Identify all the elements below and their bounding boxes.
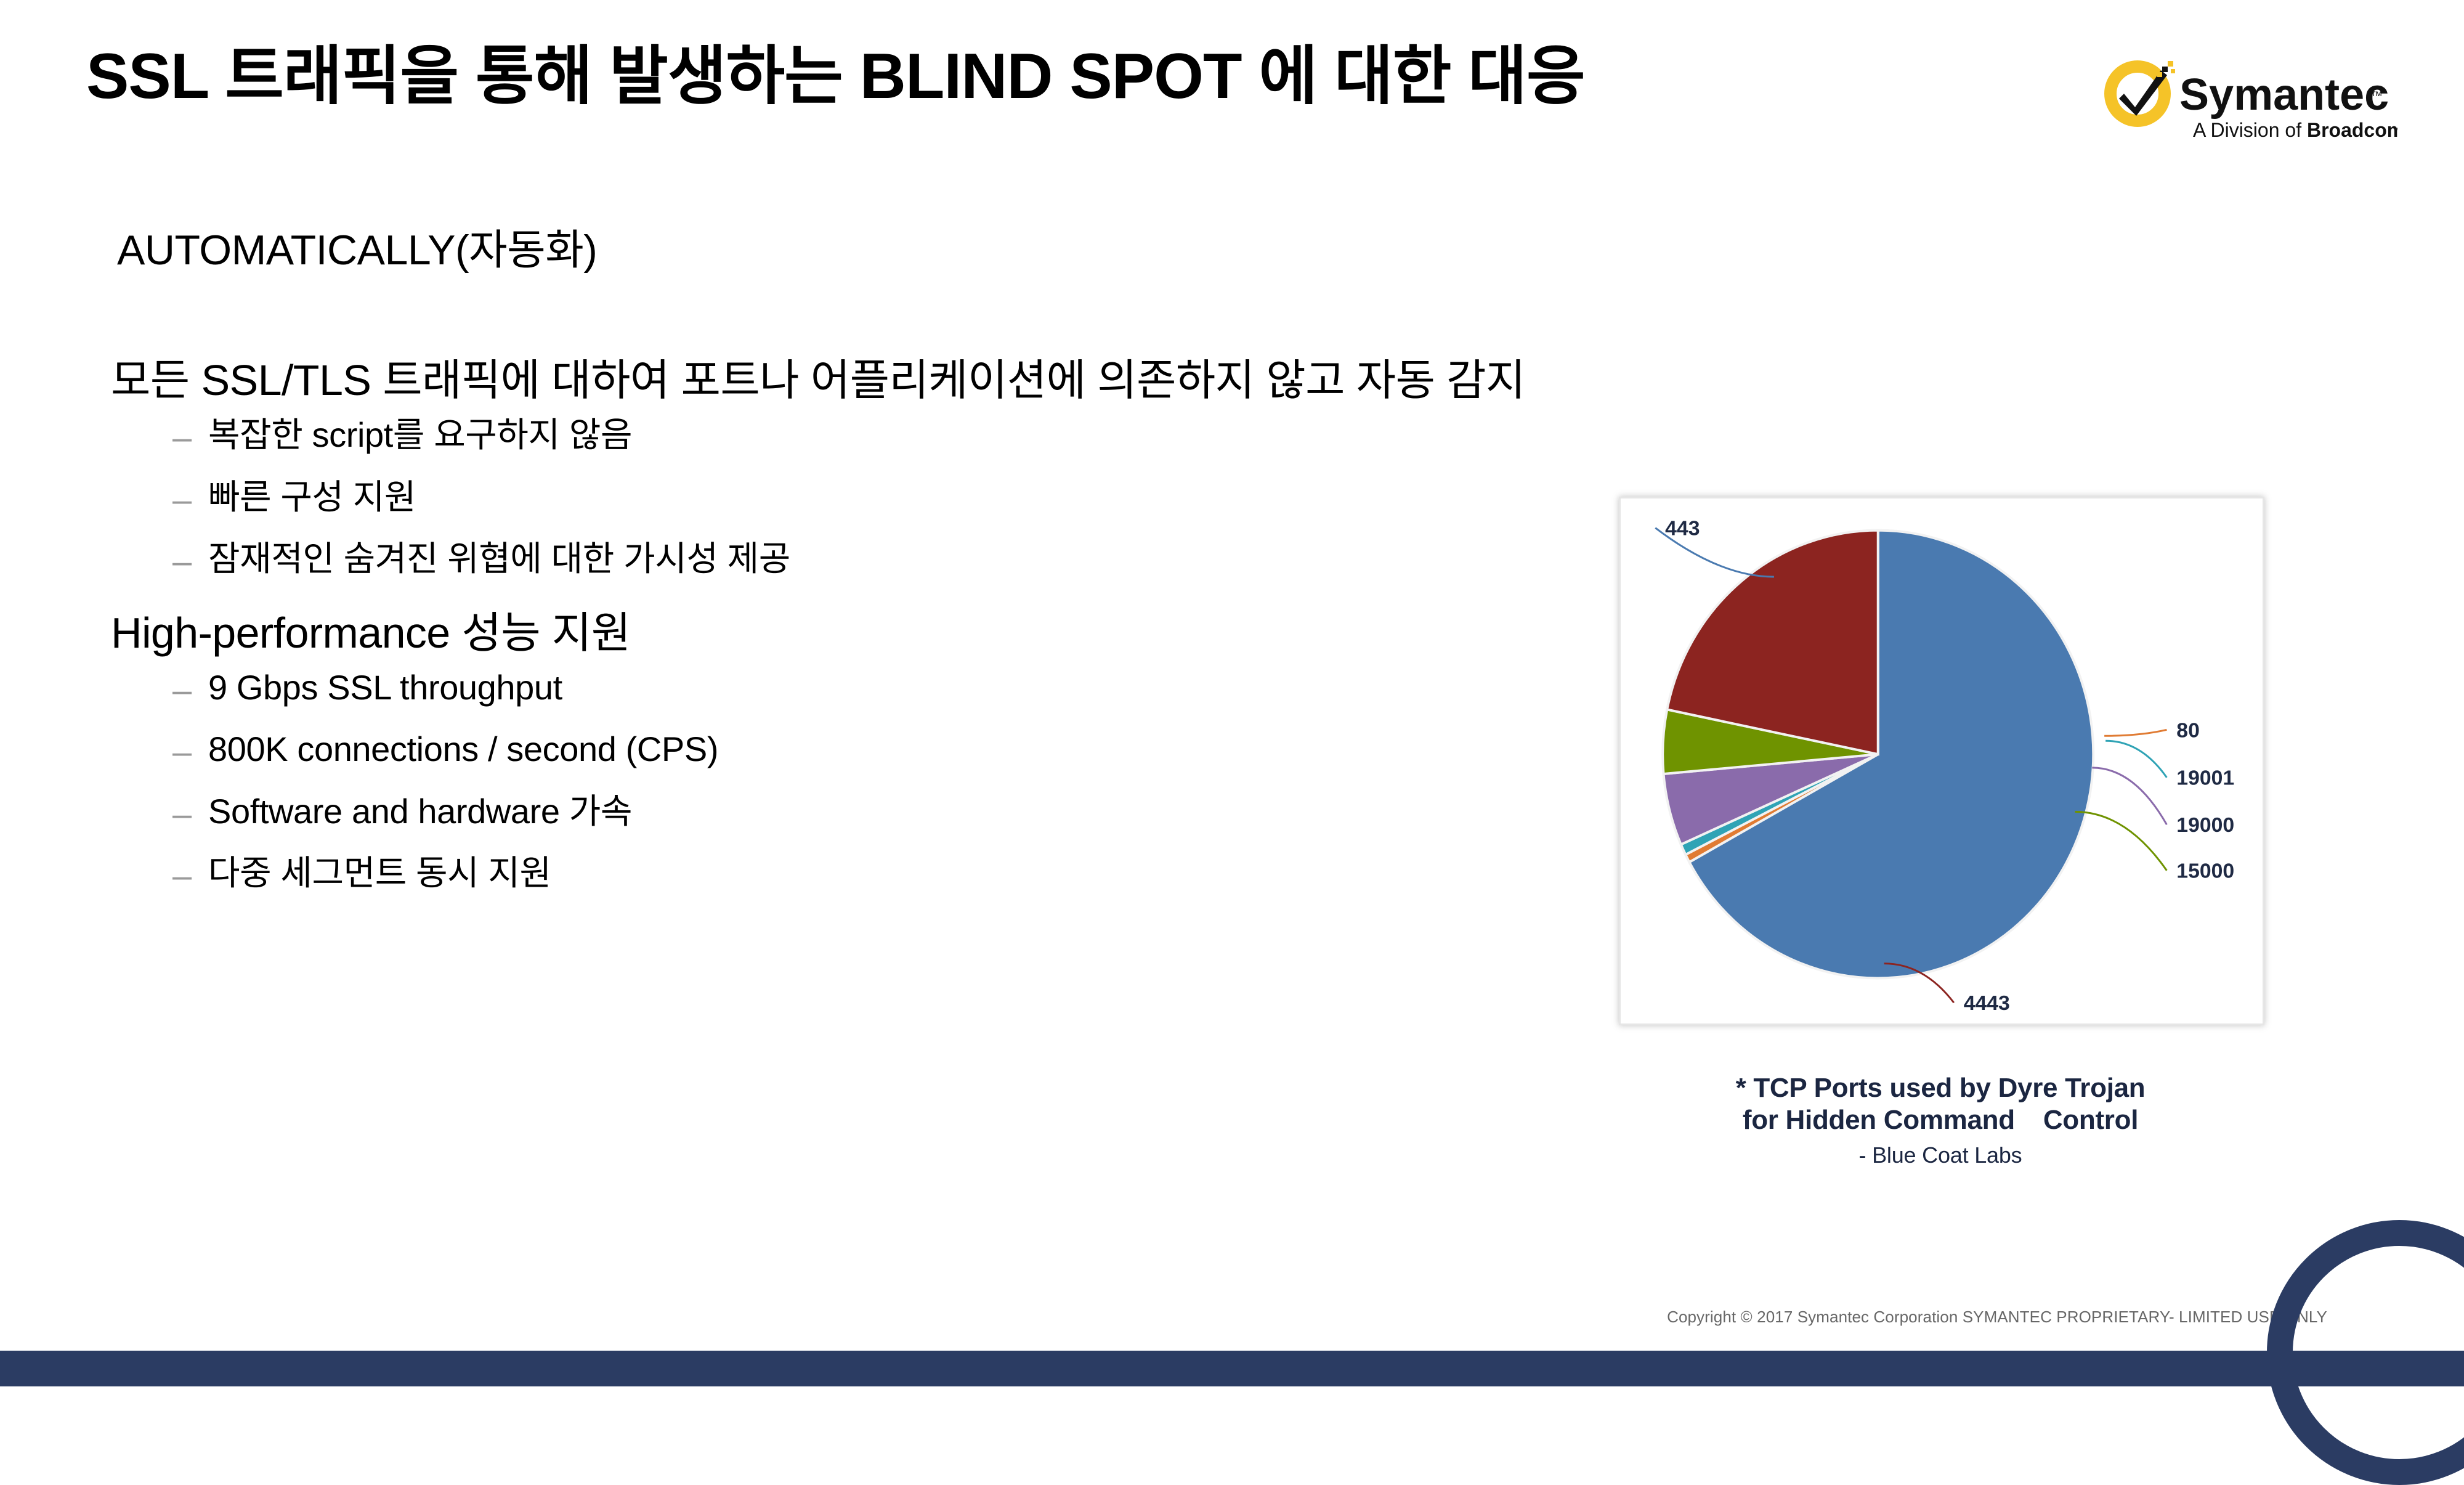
bullet-dash-icon: – bbox=[172, 733, 200, 770]
caption-line-2-b: Control bbox=[2043, 1105, 2138, 1135]
pie-label-4443: 4443 bbox=[1964, 991, 2010, 1015]
pie-label-80: 80 bbox=[2176, 718, 2200, 742]
bullet-dash-icon: – bbox=[172, 481, 200, 518]
caption-line-2-a: for Hidden Command bbox=[1743, 1105, 2015, 1135]
bullet-dash-icon: – bbox=[172, 543, 200, 580]
caption-line-1: * TCP Ports used by Dyre Trojan bbox=[1602, 1072, 2279, 1104]
copyright-notice: Copyright © 2017 Symantec Corporation SY… bbox=[1667, 1308, 2327, 1327]
title-block: SSL 트래픽을 통해 발생하는 BLIND SPOT 에 대한 대응 bbox=[86, 43, 2045, 110]
caption-source: - Blue Coat Labs bbox=[1602, 1141, 2279, 1170]
pie-label-19001: 19001 bbox=[2176, 767, 2234, 790]
body-content: 모든 SSL/TLS 트래픽에 대하여 포트나 어플리케이션에 의존하지 않고 … bbox=[111, 357, 1602, 917]
chart-caption: * TCP Ports used by Dyre Trojan for Hidd… bbox=[1602, 1072, 2279, 1170]
bullet-dash-icon: – bbox=[172, 795, 200, 832]
symantec-check-ring-icon bbox=[2110, 61, 2175, 121]
list-item-label: 빠른 구성 지원 bbox=[208, 479, 416, 516]
list-item: – Software and hardware 가속 bbox=[111, 793, 1602, 830]
symantec-logo: Symantec ™ A Division of Broadcom bbox=[2102, 55, 2397, 154]
footer-bar bbox=[0, 1351, 2464, 1386]
list-item-label: 9 Gbps SSL throughput bbox=[208, 669, 562, 706]
pie-leader-line-15000 bbox=[2075, 812, 2166, 870]
bullet-dash-icon: – bbox=[172, 672, 200, 709]
list-item-label: 다중 세그먼트 동시 지원 bbox=[208, 855, 551, 892]
list-item: – 800K connections / second (CPS) bbox=[111, 731, 1602, 768]
list-item-label: 잠재적인 숨겨진 위협에 대한 가시성 제공 bbox=[208, 540, 790, 577]
list-item-label: Software and hardware 가속 bbox=[208, 793, 632, 830]
section-1-heading: 모든 SSL/TLS 트래픽에 대하여 포트나 어플리케이션에 의존하지 않고 … bbox=[111, 357, 1602, 403]
pie-label-443: 443 bbox=[1665, 517, 1700, 540]
list-item: – 9 Gbps SSL throughput bbox=[111, 669, 1602, 706]
pie-leader-line-80 bbox=[2104, 730, 2166, 736]
section-2-bullets: – 9 Gbps SSL throughput – 800K connectio… bbox=[111, 669, 1602, 892]
bullet-dash-icon: – bbox=[172, 419, 200, 456]
section-2-heading: High-performance 성능 지원 bbox=[111, 610, 1602, 656]
tcp-ports-pie-chart: 443801900119000150004443 bbox=[1619, 497, 2264, 1025]
pie-label-19000: 19000 bbox=[2176, 813, 2234, 837]
list-item: – 빠른 구성 지원 bbox=[111, 479, 1602, 516]
list-item: – 잠재적인 숨겨진 위협에 대한 가시성 제공 bbox=[111, 540, 1602, 577]
page-title: SSL 트래픽을 통해 발생하는 BLIND SPOT 에 대한 대응 bbox=[86, 43, 2045, 110]
list-item: – 복잡한 script를 요구하지 않음 bbox=[111, 417, 1602, 454]
caption-line-2: for Hidden CommandControl bbox=[1602, 1104, 2279, 1136]
logo-tagline: A Division of Broadcom bbox=[2193, 119, 2397, 141]
logo-trademark: ™ bbox=[2370, 89, 2383, 103]
bullet-dash-icon: – bbox=[172, 857, 200, 894]
slide-subtitle: AUTOMATICALLY(자동화) bbox=[117, 229, 597, 271]
pie-chart-svg: 443801900119000150004443 bbox=[1621, 498, 2263, 1023]
list-item-label: 복잡한 script를 요구하지 않음 bbox=[208, 417, 632, 454]
section-1-bullets: – 복잡한 script를 요구하지 않음 – 빠른 구성 지원 – 잠재적인 … bbox=[111, 417, 1602, 577]
list-item: – 다중 세그먼트 동시 지원 bbox=[111, 855, 1602, 892]
pie-label-15000: 15000 bbox=[2176, 860, 2234, 883]
slide-canvas: SSL 트래픽을 통해 발생하는 BLIND SPOT 에 대한 대응 AUTO… bbox=[0, 0, 2464, 1386]
logo-wordmark: Symantec bbox=[2179, 70, 2389, 120]
list-item-label: 800K connections / second (CPS) bbox=[208, 731, 718, 768]
